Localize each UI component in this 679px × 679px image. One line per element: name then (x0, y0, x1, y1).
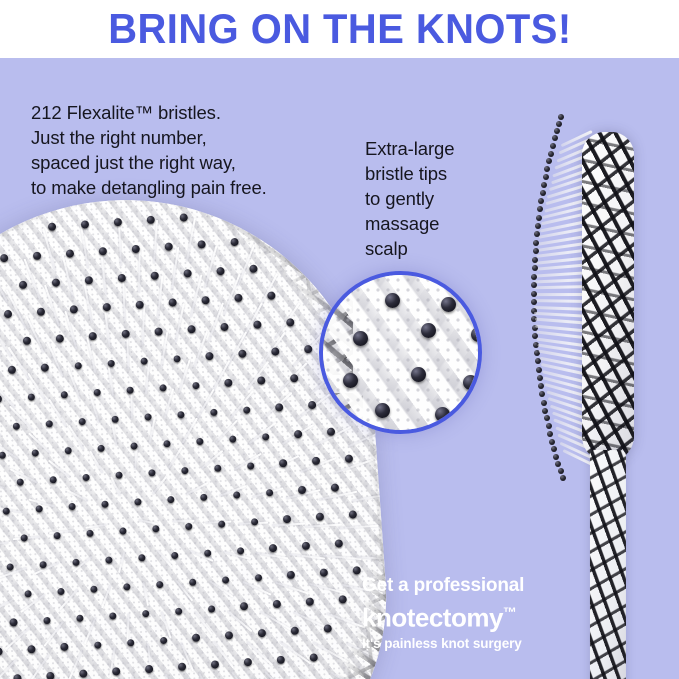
magnified-bristle-tip (441, 297, 456, 312)
magnified-bristle-tip (353, 331, 368, 346)
detangling-brush-head (0, 183, 401, 679)
side-bristle-tip (556, 121, 562, 127)
bristle-closeup-magnifier (319, 271, 482, 434)
side-bristle-tip (560, 475, 566, 481)
promo-block: Get a professional knotectomy™ It's pain… (362, 574, 524, 653)
magnified-bristle-tip (375, 403, 390, 418)
magnified-bristle-tip (331, 415, 346, 430)
side-bristle-tip (531, 299, 537, 305)
side-bristle-tip (536, 367, 542, 373)
side-bristle-tip (551, 446, 557, 452)
side-bristle-tip (542, 408, 548, 414)
magnified-bristle-tip (463, 375, 478, 390)
magnified-bristle-tip (435, 407, 450, 422)
side-bristle-tip (532, 257, 538, 263)
header-band: BRING ON THE KNOTS! (0, 0, 679, 58)
side-bristle-tip (537, 206, 543, 212)
side-bristle-tip (558, 468, 564, 474)
magnified-bristle-tip (421, 323, 436, 338)
side-bristle-tip (535, 223, 541, 229)
side-bristle-tip (546, 423, 552, 429)
side-bristle-tip (547, 431, 553, 437)
side-bristle-tip (532, 265, 538, 271)
brush-head-side-body (582, 132, 634, 462)
side-bristle-tip (558, 114, 564, 120)
bristle-tips-copy-block: Extra-large bristle tips to gently massa… (365, 136, 454, 261)
page-title: BRING ON THE KNOTS! (108, 8, 571, 50)
side-bristle-tip (533, 248, 539, 254)
magnifier-pad-dots (319, 271, 482, 434)
magnified-bristle-tip (411, 367, 426, 382)
side-bristle-tip (538, 383, 544, 389)
side-bristle-tip (539, 391, 545, 397)
side-bristle-tip (553, 454, 559, 460)
side-bristle-tip (554, 128, 560, 134)
side-bristle-tip (546, 158, 552, 164)
side-bristle-tip (531, 274, 537, 280)
side-bristle-tip (533, 240, 539, 246)
promo-line-1: Get a professional (362, 574, 524, 597)
magnified-bristle-tip (343, 373, 358, 388)
side-bristle-tip (544, 166, 550, 172)
promo-line-3: It's painless knot surgery (362, 635, 524, 653)
promo-line-2: knotectomy™ (362, 597, 524, 633)
bristles-copy-block: 212 Flexalite™ bristles. Just the right … (31, 100, 267, 200)
side-bristle-tip (537, 375, 543, 381)
side-bristle-tip (541, 400, 547, 406)
side-bristle-tip (550, 143, 556, 149)
side-bristle-tip (555, 461, 561, 467)
side-bristle-tip (540, 190, 546, 196)
magnified-bristle-tip (385, 293, 400, 308)
trademark-symbol: ™ (503, 604, 517, 620)
side-bristle-tip (552, 135, 558, 141)
side-bristle-tip (549, 439, 555, 445)
side-bristle-tip (538, 198, 544, 204)
side-bristle-tip (548, 151, 554, 157)
brush-handle (590, 450, 626, 679)
promo-brand-word: knotectomy (362, 603, 503, 633)
side-bristle-tip (544, 415, 550, 421)
side-bristle-tip (536, 215, 542, 221)
side-bristle-tip (531, 291, 537, 297)
side-bristle-tip (543, 174, 549, 180)
side-bristle-tip (541, 182, 547, 188)
detangling-brush-side-view (520, 120, 679, 679)
product-infographic: BRING ON THE KNOTS! 212 Flexalite™ brist… (0, 0, 679, 679)
